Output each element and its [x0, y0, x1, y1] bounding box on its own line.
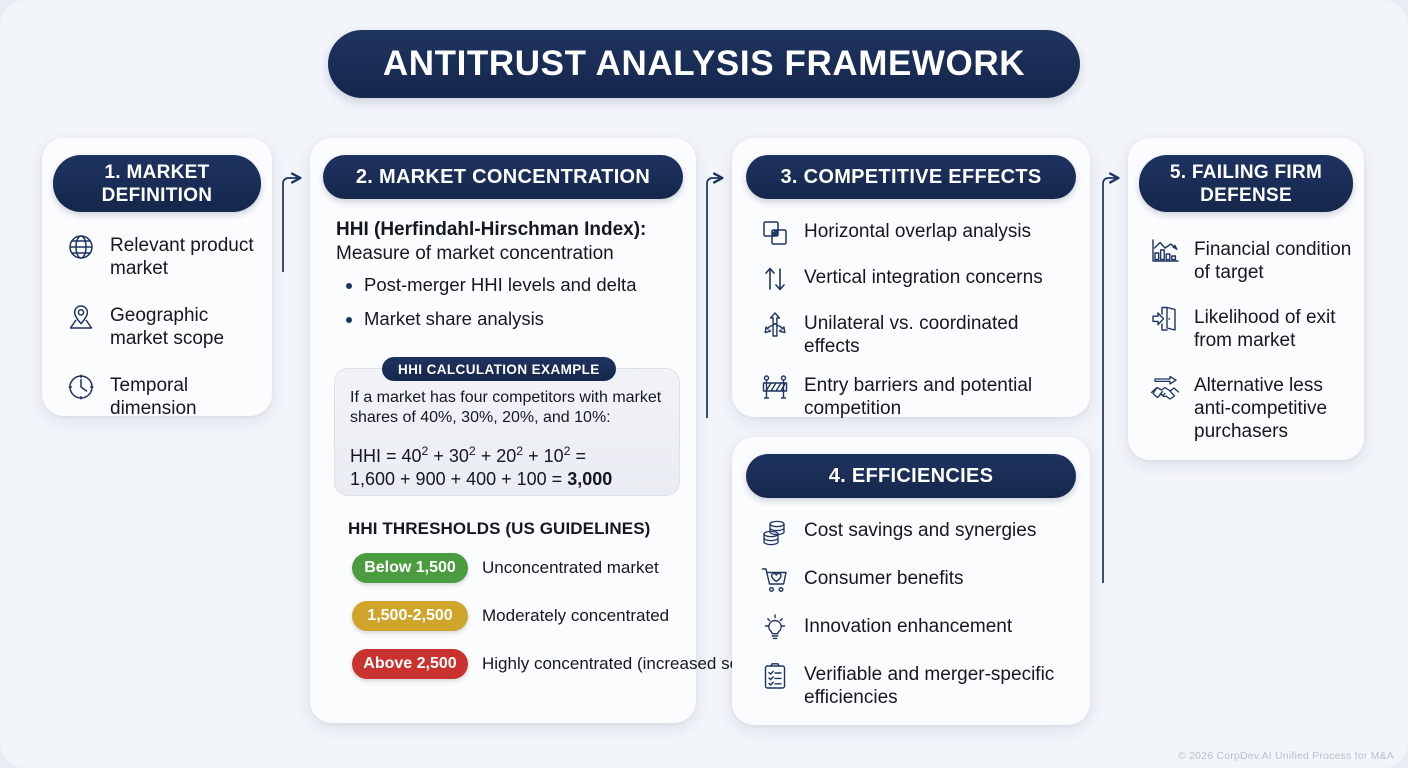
- threshold-row: Below 1,500 Unconcentrated market: [352, 553, 659, 583]
- list-item-label: Relevant product market: [110, 230, 264, 280]
- list-item: Unilateral vs. coordinated effects: [758, 308, 1078, 358]
- hhi-thresholds-title: HHI THRESHOLDS (US GUIDELINES): [348, 519, 650, 539]
- coins-stack-icon: [758, 515, 792, 549]
- list-item-label: Alternative less anti-competitive purcha…: [1194, 370, 1360, 443]
- status-badge: Below 1,500: [352, 553, 468, 583]
- formula-part: =: [570, 446, 586, 466]
- clipboard-checklist-icon: [758, 659, 792, 693]
- hhi-example-premise: If a market has four competitors with ma…: [350, 388, 668, 428]
- list-item: Geographic market scope: [64, 300, 264, 350]
- card-market-concentration-heading: 2. MARKET CONCENTRATION: [323, 155, 683, 199]
- formula-result: 3,000: [567, 469, 612, 489]
- card-efficiencies: 4. EFFICIENCIES Cost savings and synergi…: [732, 437, 1090, 725]
- card-market-definition-items: Relevant product market Geographic marke…: [64, 230, 264, 440]
- up-down-arrows-icon: [758, 262, 792, 296]
- threshold-description: Unconcentrated market: [482, 558, 659, 578]
- card-failing-firm-defense: 5. FAILING FIRM DEFENSE Financial condit…: [1128, 138, 1364, 460]
- card-competitive-effects: 3. COMPETITIVE EFFECTS Horizontal overla…: [732, 138, 1090, 417]
- list-item-label: Financial condition of target: [1194, 234, 1360, 284]
- hhi-example-label: HHI CALCULATION EXAMPLE: [382, 357, 616, 381]
- status-badge: Above 2,500: [352, 649, 468, 679]
- threshold-description: Moderately concentrated: [482, 606, 669, 626]
- list-item-label: Innovation enhancement: [804, 611, 1012, 638]
- list-item-label: Cost savings and synergies: [804, 515, 1036, 542]
- page-title-text: ANTITRUST ANALYSIS FRAMEWORK: [383, 44, 1025, 84]
- threshold-row: 1,500-2,500 Moderately concentrated: [352, 601, 669, 631]
- list-item: Entry barriers and potential competition: [758, 370, 1078, 420]
- card-efficiencies-heading: 4. EFFICIENCIES: [746, 454, 1076, 498]
- overlapping-squares-icon: [758, 216, 792, 250]
- card-failing-firm-defense-items: Financial condition of target Likelihood…: [1148, 234, 1360, 461]
- card-market-definition-heading: 1. MARKET DEFINITION: [53, 155, 261, 212]
- list-item: Post-merger HHI levels and delta: [364, 274, 704, 296]
- list-item: Horizontal overlap analysis: [758, 216, 1078, 250]
- card-efficiencies-items: Cost savings and synergies Consumer bene…: [758, 515, 1078, 723]
- list-item-label: Geographic market scope: [110, 300, 264, 350]
- list-item: Likelihood of exit from market: [1148, 302, 1360, 352]
- list-item: Verifiable and merger-specific efficienc…: [758, 659, 1078, 709]
- card-failing-firm-defense-heading: 5. FAILING FIRM DEFENSE: [1139, 155, 1353, 212]
- list-item: Temporal dimension: [64, 370, 264, 420]
- list-item: Innovation enhancement: [758, 611, 1078, 645]
- formula-part: + 30: [428, 446, 469, 466]
- list-item: Vertical integration concerns: [758, 262, 1078, 296]
- hhi-term: HHI (Herfindahl-Hirschman Index):: [336, 218, 676, 242]
- threshold-row: Above 2,500 Highly concentrated (increas…: [352, 649, 785, 679]
- list-item: Alternative less anti-competitive purcha…: [1148, 370, 1360, 443]
- list-item-label: Consumer benefits: [804, 563, 963, 590]
- list-item-label: Likelihood of exit from market: [1194, 302, 1360, 352]
- status-badge: 1,500-2,500: [352, 601, 468, 631]
- page-title: ANTITRUST ANALYSIS FRAMEWORK: [328, 30, 1080, 98]
- list-item-label: Vertical integration concerns: [804, 262, 1043, 289]
- card-competitive-effects-heading: 3. COMPETITIVE EFFECTS: [746, 155, 1076, 199]
- globe-icon: [64, 230, 98, 264]
- infographic-canvas: ANTITRUST ANALYSIS FRAMEWORK 1. MARKET D…: [0, 0, 1408, 768]
- list-item-label: Temporal dimension: [110, 370, 264, 420]
- formula-part: HHI = 40: [350, 446, 422, 466]
- map-pin-icon: [64, 300, 98, 334]
- shopping-cart-heart-icon: [758, 563, 792, 597]
- handshake-arrow-icon: [1148, 370, 1182, 404]
- exponent: 2: [469, 444, 476, 458]
- list-item: Cost savings and synergies: [758, 515, 1078, 549]
- list-item-label: Entry barriers and potential competition: [804, 370, 1078, 420]
- branching-arrows-icon: [758, 308, 792, 342]
- list-item-label: Horizontal overlap analysis: [804, 216, 1031, 243]
- formula-part: + 10: [523, 446, 564, 466]
- hhi-example-formula: HHI = 402 + 302 + 202 + 102 = 1,600 + 90…: [350, 440, 668, 491]
- list-item: Consumer benefits: [758, 563, 1078, 597]
- hhi-example-content: If a market has four competitors with ma…: [350, 388, 668, 491]
- list-item: Relevant product market: [64, 230, 264, 280]
- barrier-icon: [758, 370, 792, 404]
- list-item-label: Unilateral vs. coordinated effects: [804, 308, 1078, 358]
- hhi-definition-block: HHI (Herfindahl-Hirschman Index): Measur…: [336, 218, 676, 266]
- clock-icon: [64, 370, 98, 404]
- list-item: Market share analysis: [364, 308, 704, 330]
- formula-sum: 1,600 + 900 + 400 + 100 =: [350, 469, 567, 489]
- list-item: Financial condition of target: [1148, 234, 1360, 284]
- formula-part: + 20: [476, 446, 517, 466]
- list-item-label: Verifiable and merger-specific efficienc…: [804, 659, 1078, 709]
- card-competitive-effects-items: Horizontal overlap analysis Vertical int…: [758, 216, 1078, 432]
- copyright-footer: © 2026 CorpDev.AI Unified Process for M&…: [1178, 750, 1394, 762]
- card-market-definition: 1. MARKET DEFINITION Relevant product ma…: [42, 138, 272, 416]
- hhi-definition: Measure of market concentration: [336, 242, 676, 266]
- declining-bar-chart-icon: [1148, 234, 1182, 268]
- market-concentration-bullets: Post-merger HHI levels and delta Market …: [342, 274, 704, 342]
- lightbulb-icon: [758, 611, 792, 645]
- exit-door-icon: [1148, 302, 1182, 336]
